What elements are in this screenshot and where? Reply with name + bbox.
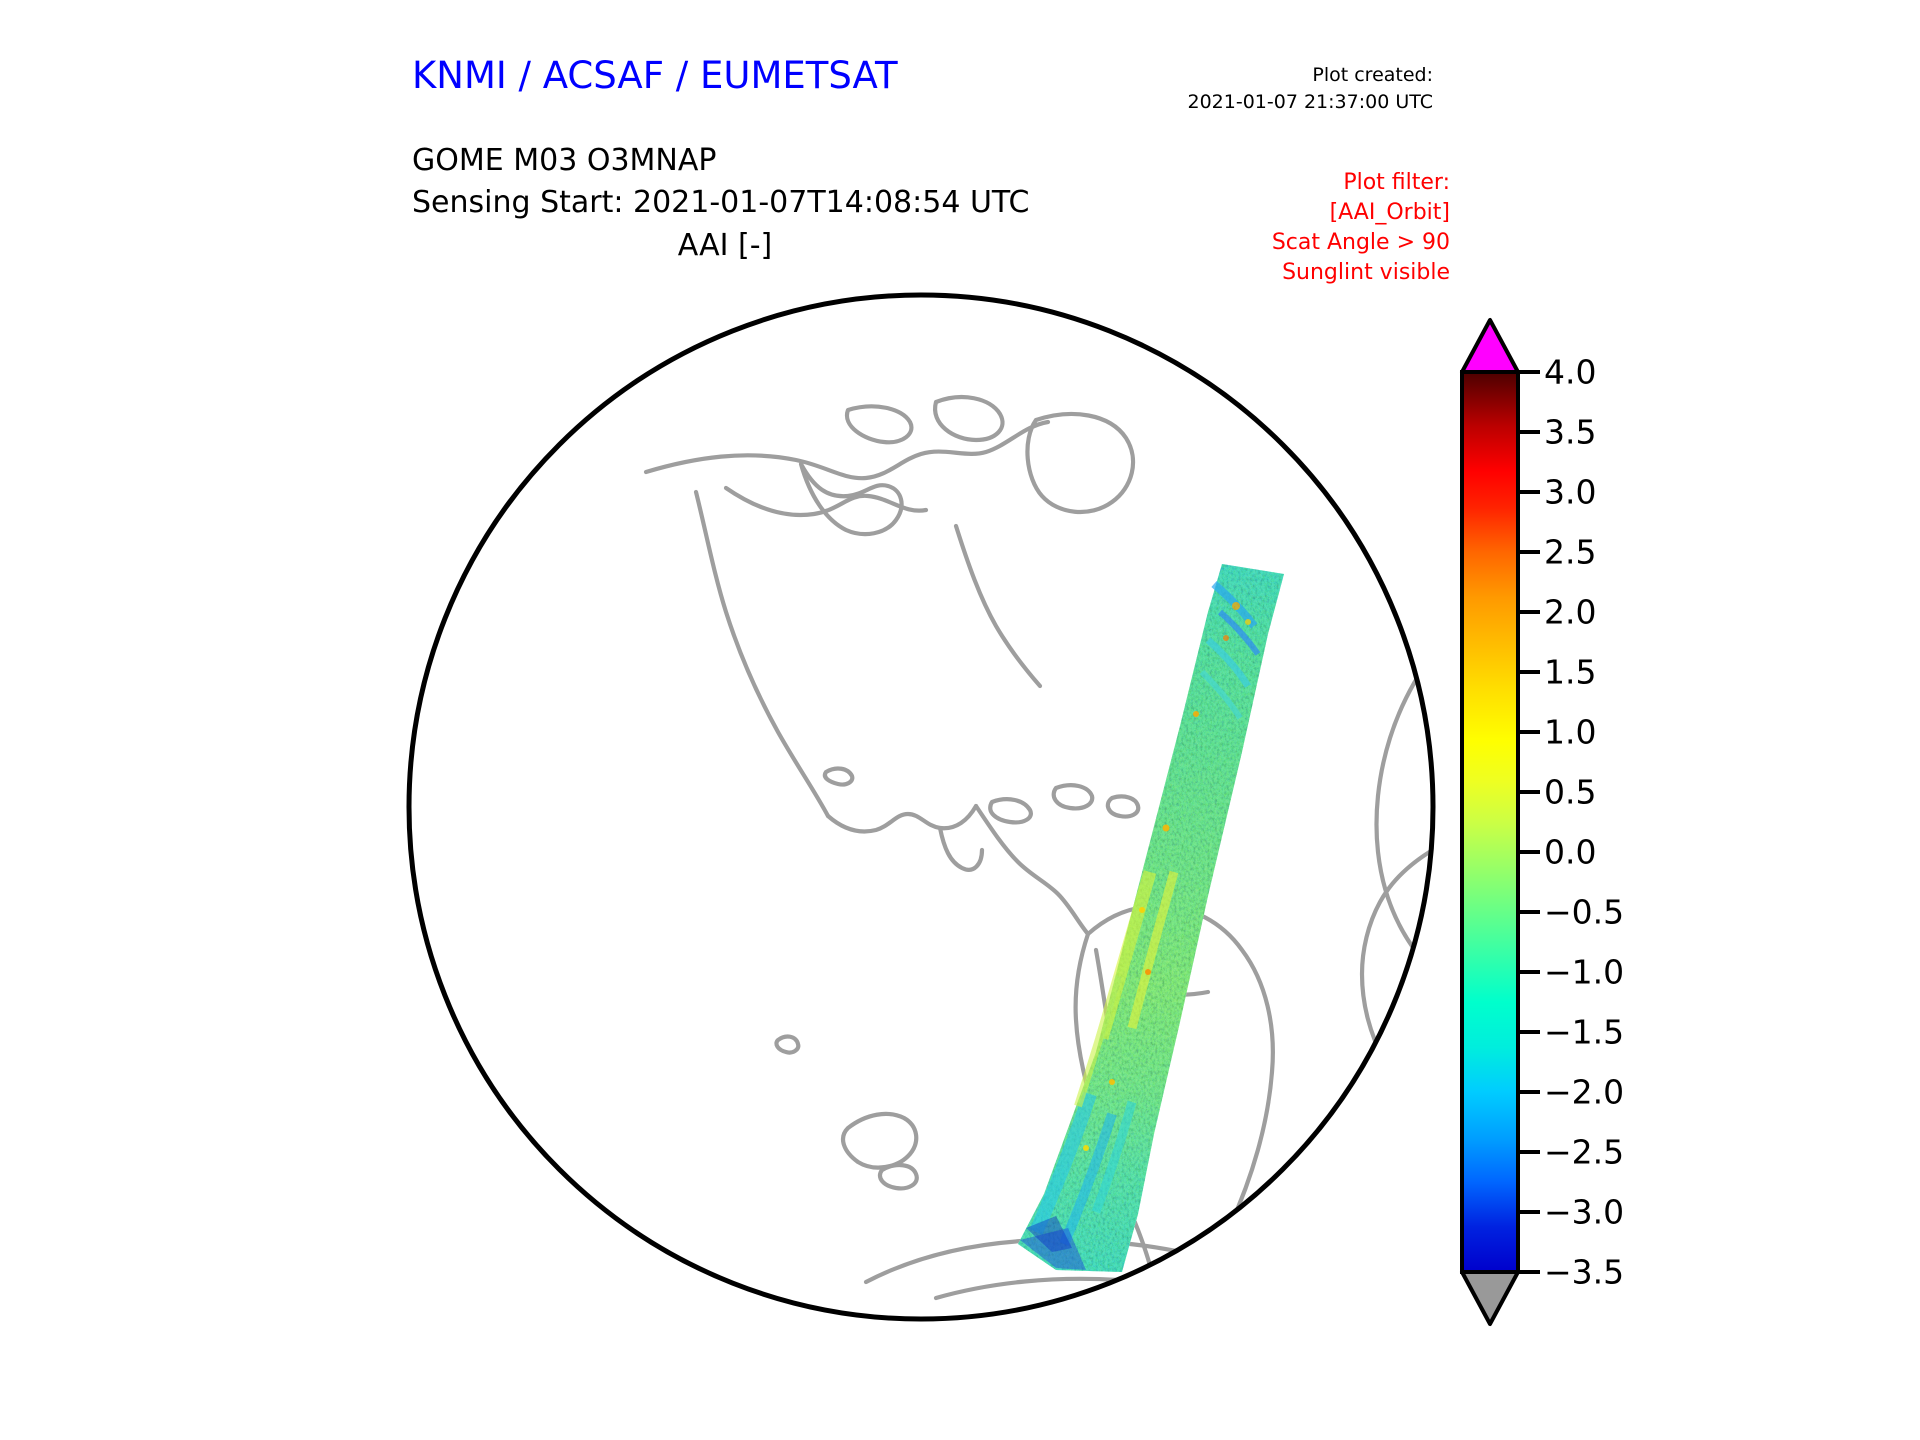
colorbar-tick-label: 2.5	[1544, 533, 1596, 572]
colorbar-tick-label: 2.0	[1544, 593, 1596, 632]
globe-disc	[409, 295, 1433, 1319]
colorbar-tick-label: −1.0	[1544, 953, 1624, 992]
colorbar-tick-label: 1.5	[1544, 653, 1596, 692]
plot-created-timestamp: 2021-01-07 21:37:00 UTC	[1188, 89, 1434, 116]
colorbar-tick-label: −3.5	[1544, 1253, 1624, 1292]
product-title-block: GOME M03 O3MNAP Sensing Start: 2021-01-0…	[412, 140, 1029, 224]
colorbar-tick-label: 4.0	[1544, 353, 1596, 392]
plot-created-label: Plot created:	[1188, 62, 1434, 89]
product-name: GOME M03 O3MNAP	[412, 140, 1029, 182]
colorbar-ticks	[1518, 372, 1540, 1272]
colorbar-tick-label: −2.0	[1544, 1073, 1624, 1112]
colorbar-tick-label: 3.5	[1544, 413, 1596, 452]
colorbar-tick-label: −0.5	[1544, 893, 1624, 932]
page-title: AAI [-]	[0, 228, 1450, 263]
plot-filter-block: Plot filter: [AAI_Orbit] Scat Angle > 90…	[1272, 168, 1450, 288]
sensing-start: Sensing Start: 2021-01-07T14:08:54 UTC	[412, 182, 1029, 224]
colorbar-tick-label: 3.0	[1544, 473, 1596, 512]
organisation-title: KNMI / ACSAF / EUMETSAT	[412, 54, 898, 97]
colorbar-tick-label: −2.5	[1544, 1133, 1624, 1172]
plot-filter-name: [AAI_Orbit]	[1272, 198, 1450, 228]
globe-svg	[396, 282, 1446, 1332]
colorbar-gradient	[1462, 372, 1518, 1272]
plot-created-block: Plot created: 2021-01-07 21:37:00 UTC	[1188, 62, 1434, 116]
colorbar-under-arrow	[1462, 1272, 1518, 1324]
colorbar-tick-label: 0.5	[1544, 773, 1596, 812]
colorbar-tick-label: 1.0	[1544, 713, 1596, 752]
colorbar-tick-label: −1.5	[1544, 1013, 1624, 1052]
plot-filter-condition: Scat Angle > 90	[1272, 228, 1450, 258]
map-globe	[396, 282, 1446, 1332]
colorbar-over-arrow	[1462, 320, 1518, 372]
plot-filter-label: Plot filter:	[1272, 168, 1450, 198]
colorbar-tick-label: 0.0	[1544, 833, 1596, 872]
colorbar: 4.0 3.5 3.0 2.5 2.0 1.5 1.0 0.5 0.0 −0.5…	[1448, 282, 1708, 1352]
colorbar-tick-label: −3.0	[1544, 1193, 1624, 1232]
